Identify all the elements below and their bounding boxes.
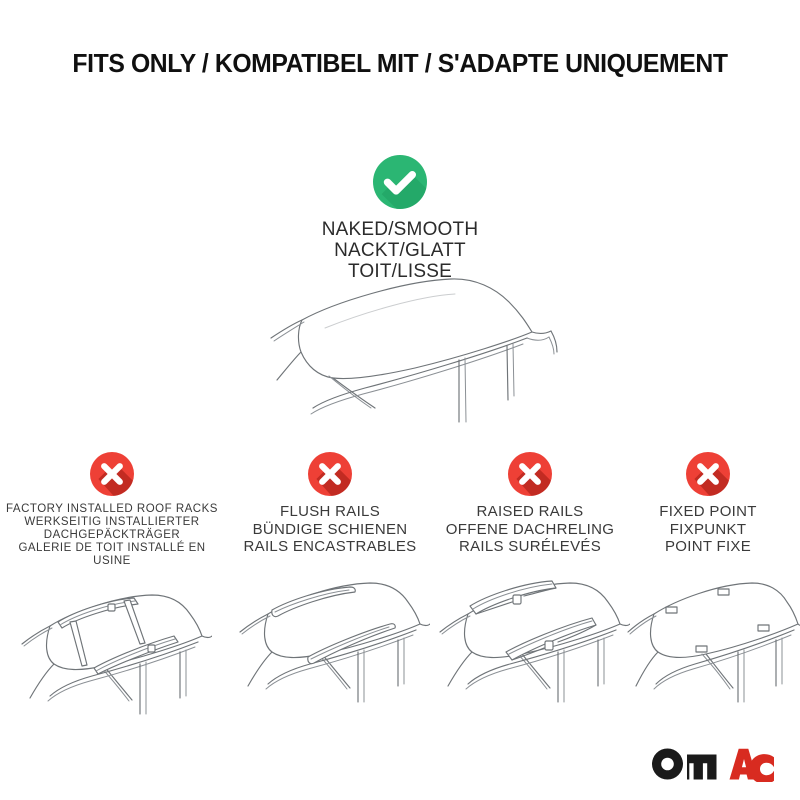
roof-type-label-de: FIXPUNKT	[622, 521, 794, 539]
car-roof-factory-racks-illustration	[2, 574, 222, 724]
approved-label-en: NAKED/SMOOTH	[0, 219, 800, 240]
approved-section: NAKED/SMOOTH NACKT/GLATT TOIT/LISSE	[0, 155, 800, 282]
omac-logo-accent-part	[730, 749, 775, 782]
roof-type-label-en: FLUSH RAILS	[222, 503, 438, 521]
omac-logo-dark-part	[652, 749, 717, 780]
roof-type-label-fr: RAILS SURÉLEVÉS	[428, 538, 632, 556]
omac-logo	[650, 746, 774, 782]
roof-type-label-de: OFFENE DACHRELING	[428, 521, 632, 539]
roof-type-label-fr: RAILS ENCASTRABLES	[222, 538, 438, 556]
roof-type-labels: FIXED POINT FIXPUNKT POINT FIXE	[622, 503, 794, 556]
roof-type-label-de-2: DACHGEPÄCKTRÄGER	[2, 529, 222, 542]
roof-type-label-fr: GALERIE DE TOIT INSTALLÉ EN USINE	[2, 542, 222, 568]
roof-type-labels: FACTORY INSTALLED ROOF RACKS WERKSEITIG …	[2, 503, 222, 568]
roof-type-label-fr: POINT FIXE	[622, 538, 794, 556]
x-circle-icon	[90, 452, 134, 496]
car-roof-raised-rails-illustration	[428, 562, 632, 712]
roof-type-label-en: FACTORY INSTALLED ROOF RACKS	[2, 503, 222, 516]
roof-type-label-de: BÜNDIGE SCHIENEN	[222, 521, 438, 539]
roof-type-raised-rails: RAISED RAILS OFFENE DACHRELING RAILS SUR…	[428, 452, 632, 712]
roof-type-label-de-1: WERKSEITIG INSTALLIERTER	[2, 516, 222, 529]
approved-label-de: NACKT/GLATT	[0, 240, 800, 261]
roof-type-factory-installed-roof-racks: FACTORY INSTALLED ROOF RACKS WERKSEITIG …	[2, 452, 222, 724]
roof-type-labels: RAISED RAILS OFFENE DACHRELING RAILS SUR…	[428, 503, 632, 556]
roof-type-label-en: FIXED POINT	[622, 503, 794, 521]
check-circle-icon	[373, 155, 427, 209]
incompatible-roof-types-grid: FACTORY INSTALLED ROOF RACKS WERKSEITIG …	[0, 452, 800, 702]
x-circle-icon	[308, 452, 352, 496]
roof-type-labels: FLUSH RAILS BÜNDIGE SCHIENEN RAILS ENCAS…	[222, 503, 438, 556]
x-circle-icon	[686, 452, 730, 496]
car-roof-naked-smooth-illustration	[255, 272, 565, 442]
roof-type-flush-rails: FLUSH RAILS BÜNDIGE SCHIENEN RAILS ENCAS…	[222, 452, 438, 712]
x-circle-icon	[508, 452, 552, 496]
roof-type-fixed-point: FIXED POINT FIXPUNKT POINT FIXE	[622, 452, 794, 712]
roof-type-label-en: RAISED RAILS	[428, 503, 632, 521]
page-title: FITS ONLY / KOMPATIBEL MIT / S'ADAPTE UN…	[12, 50, 788, 79]
car-roof-fixed-point-illustration	[622, 562, 794, 712]
car-roof-flush-rails-illustration	[222, 562, 438, 712]
